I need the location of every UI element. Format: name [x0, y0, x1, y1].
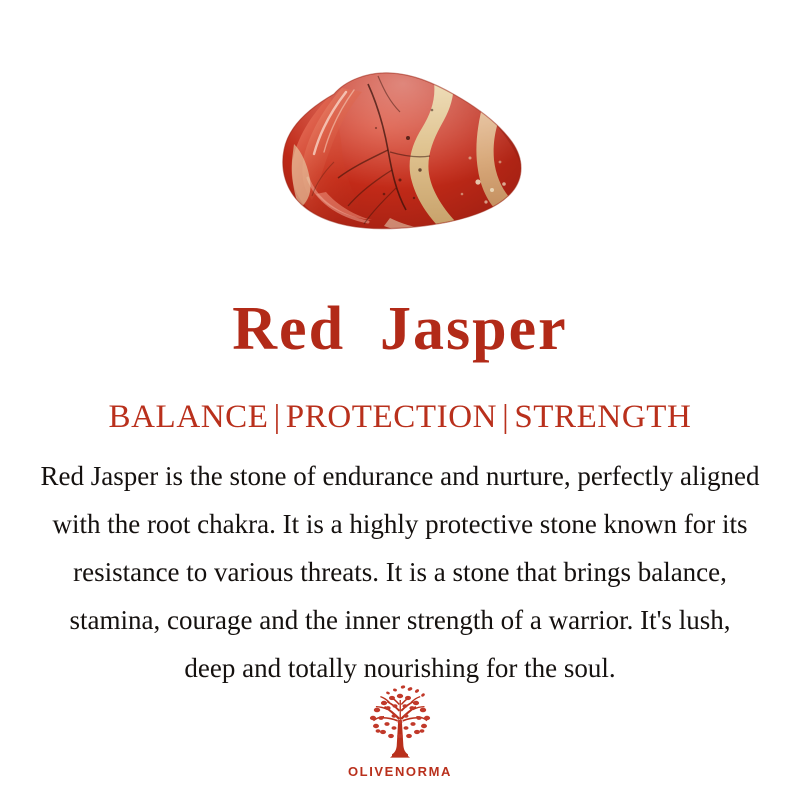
red-jasper-stone-illustration — [272, 66, 534, 242]
description-line: resistance to various threats. It is a s… — [14, 548, 786, 596]
description-line: with the root chakra. It is a highly pro… — [14, 500, 786, 548]
keyword-separator: | — [269, 398, 286, 436]
brand-logo: OLIVENORMA — [0, 684, 800, 779]
description-line: stamina, courage and the inner strength … — [14, 596, 786, 644]
page-title: Red Jasper — [0, 296, 800, 362]
tree-icon — [354, 684, 446, 762]
keyword-protection: PROTECTION — [286, 399, 497, 435]
gemstone-image — [272, 66, 534, 242]
keyword-list: BALANCE|PROTECTION|STRENGTH — [0, 398, 800, 436]
description-line: Red Jasper is the stone of endurance and… — [14, 452, 786, 500]
description-text: Red Jasper is the stone of endurance and… — [14, 452, 786, 692]
brand-wordmark: OLIVENORMA — [0, 764, 800, 779]
keyword-strength: STRENGTH — [514, 399, 691, 435]
red-jasper-info-card: Red Jasper BALANCE|PROTECTION|STRENGTH R… — [0, 0, 800, 800]
keyword-balance: BALANCE — [109, 399, 269, 435]
keyword-separator: | — [497, 398, 514, 436]
